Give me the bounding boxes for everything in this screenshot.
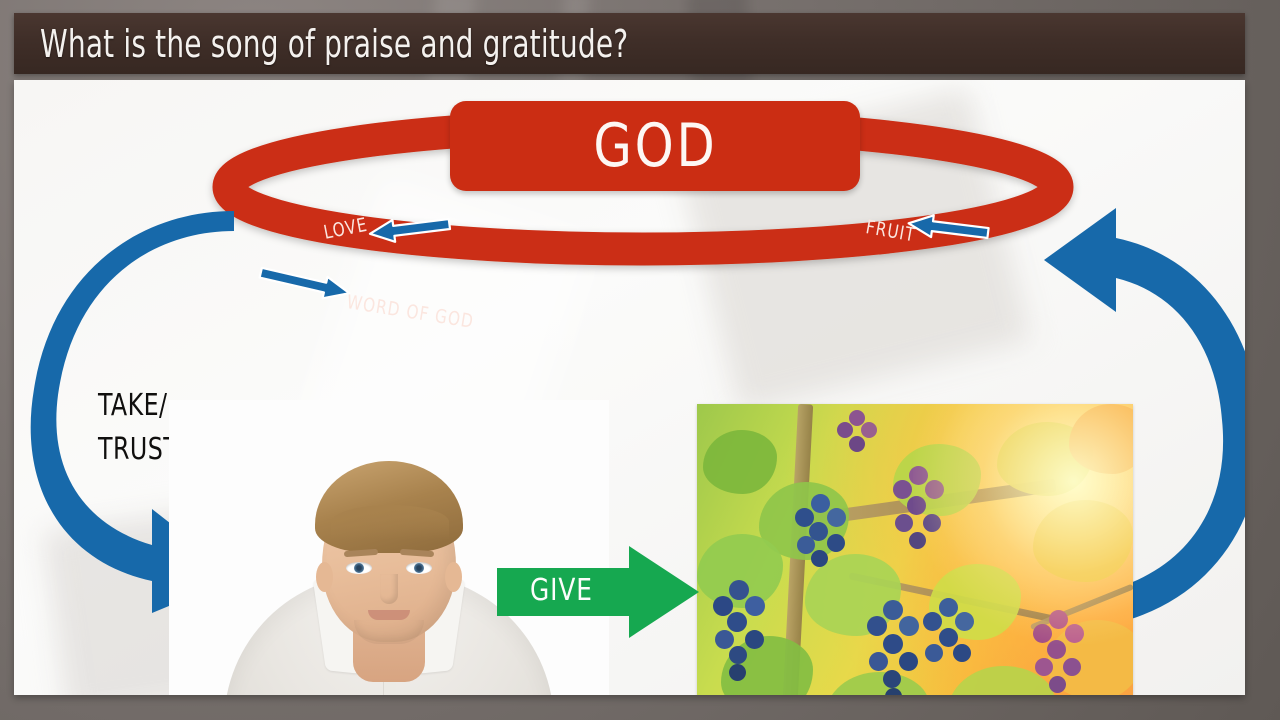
grapevine-image: [697, 404, 1133, 695]
mouth: [368, 610, 410, 620]
eyebrow-left: [344, 549, 378, 557]
eye-left: [346, 562, 372, 574]
head: [322, 470, 456, 642]
god-label: GOD: [593, 116, 717, 176]
iris: [414, 563, 424, 573]
sun-glow: [913, 404, 1133, 644]
hair: [315, 461, 463, 553]
give-label: GIVE: [530, 573, 593, 608]
ear-right: [445, 562, 462, 592]
god-center-node: GOD: [450, 101, 860, 191]
page-title: What is the song of praise and gratitude…: [40, 21, 628, 67]
presentation-slide: What is the song of praise and gratitude…: [0, 0, 1280, 720]
ring-label-word-of-god: WORD OF GOD: [345, 291, 475, 333]
eye-right: [406, 562, 432, 574]
slide-content-area: GOD LOVE WORD OF GOD FRUIT: [14, 80, 1245, 695]
iris: [354, 563, 364, 573]
ear-left: [316, 562, 333, 592]
nose: [380, 574, 398, 604]
give-arrow: GIVE: [497, 546, 699, 638]
eyebrow-right: [400, 549, 434, 557]
slide-title-bar: What is the song of praise and gratitude…: [14, 13, 1245, 74]
